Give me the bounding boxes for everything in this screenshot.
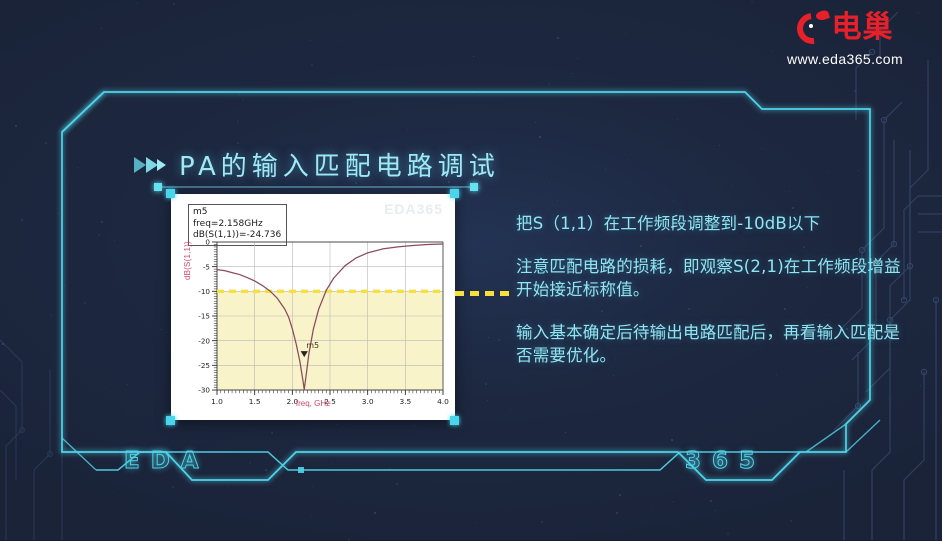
x-axis-label: freq, GHz [171, 399, 455, 408]
slide-root: 电巢 www.eda365.com PA的输入匹配电路调试 EDA365 m5 … [0, 0, 942, 540]
decor-word-365: 365 [685, 448, 766, 474]
svg-text:-30: -30 [198, 386, 210, 395]
y-axis-label: dB(S(1,1)) [183, 241, 192, 280]
brand-name-cn: 电巢 [832, 13, 894, 43]
brand-url: www.eda365.com [770, 51, 920, 67]
svg-text:-10: -10 [198, 287, 210, 296]
resize-handle-top-right[interactable] [450, 189, 459, 198]
bullet-item: 注意匹配电路的损耗，即观察S(2,1)在工作频段增益开始接近标称值。 [516, 255, 916, 301]
svg-text:-15: -15 [198, 312, 210, 321]
s11-line-chart: 1.01.52.02.53.03.54.00-5-10-15-20-25-30m… [171, 194, 455, 420]
bullet-list: 把S（1,1）在工作频段调整到-10dB以下 注意匹配电路的损耗，即观察S(2,… [516, 212, 916, 367]
chart-card[interactable]: EDA365 m5 freq=2.158GHz dB(S(1,1))=-24.7… [171, 194, 455, 420]
svg-text:m5: m5 [306, 341, 319, 350]
threshold-line-extension [455, 291, 513, 296]
resize-handle-bottom-right[interactable] [450, 416, 459, 425]
resize-handle-top-left[interactable] [166, 189, 175, 198]
page-title-text: PA的输入匹配电路调试 [179, 146, 500, 183]
svg-text:-20: -20 [198, 336, 210, 345]
title-underline [156, 186, 476, 188]
brand-logo: 电巢 www.eda365.com [770, 8, 920, 67]
double-chevron-right-icon [133, 155, 167, 175]
svg-text:-25: -25 [198, 361, 210, 370]
bullet-item: 输入基本确定后待输出电路匹配后，再看输入匹配是否需要优化。 [516, 321, 916, 367]
resize-handle-bottom-left[interactable] [166, 416, 175, 425]
bullet-item: 把S（1,1）在工作频段调整到-10dB以下 [516, 212, 916, 235]
svg-text:0: 0 [205, 238, 210, 247]
decor-word-eda: EDA [124, 448, 210, 474]
swirl-logo-icon [797, 13, 828, 44]
circuit-trace-decoration-left [0, 300, 70, 540]
svg-text:-5: -5 [203, 262, 210, 271]
plot-area: 1.01.52.02.53.03.54.00-5-10-15-20-25-30m… [171, 194, 455, 420]
page-title: PA的输入匹配电路调试 [133, 146, 500, 183]
